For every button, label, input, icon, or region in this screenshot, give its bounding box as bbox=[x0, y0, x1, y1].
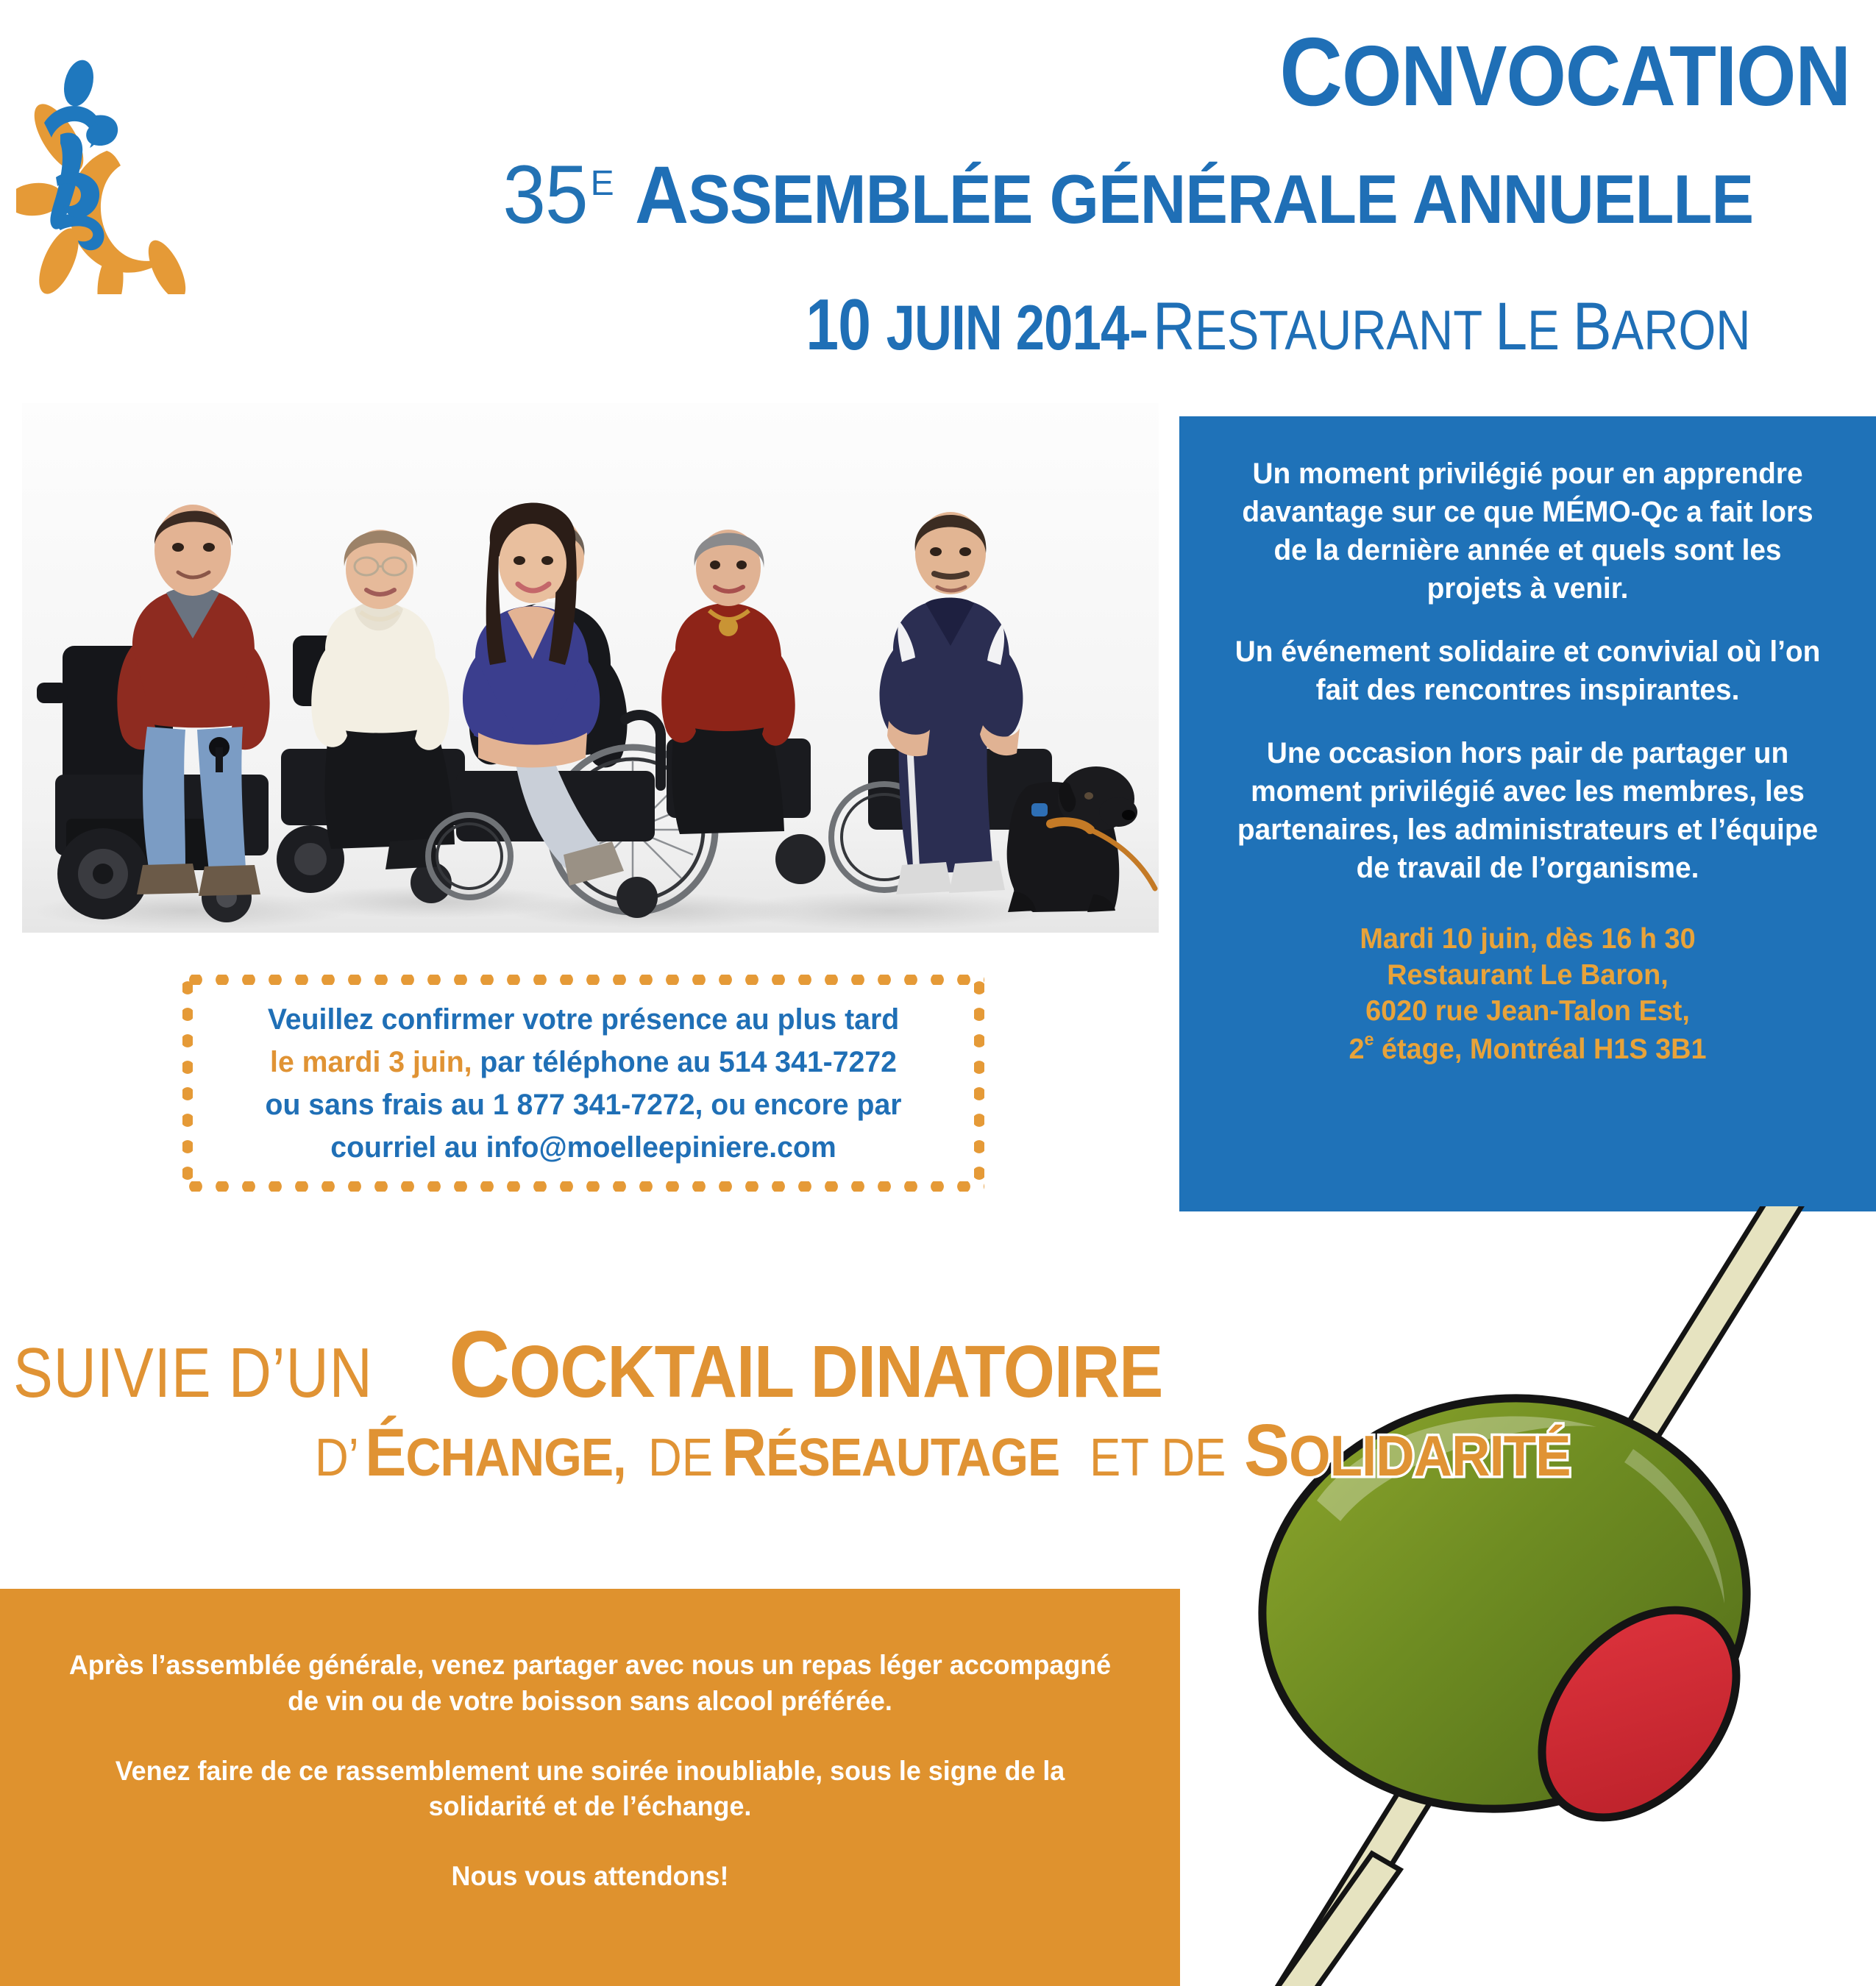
cocktail-bold: COCKTAIL DINATOIRE bbox=[449, 1311, 1162, 1419]
blue-paragraph-1: Un moment privilégié pour en apprendre d… bbox=[1226, 455, 1830, 608]
poster-canvas: CONVOCATION 35EASSEMBLÉE GÉNÉRALE ANNUEL… bbox=[0, 0, 1876, 1986]
reseautage-rest: ÉSEAUTAGE bbox=[767, 1428, 1060, 1487]
venue-cap-r: R bbox=[1153, 289, 1195, 364]
orange-paragraph-2: Venez faire de ce rassemblement une soir… bbox=[57, 1754, 1122, 1826]
orange-paragraph-3: Nous vous attendons! bbox=[57, 1859, 1122, 1895]
rsvp-line-3: ou sans frais au 1 877 341-7272, ou enco… bbox=[209, 1083, 957, 1126]
memo-qc-logo bbox=[16, 40, 270, 294]
group-photo bbox=[22, 403, 1159, 933]
convocation-cap: C bbox=[1279, 18, 1342, 126]
edition-suffix: E bbox=[591, 164, 614, 203]
cocktail-bold-rest: OCKTAIL DINATOIRE bbox=[509, 1331, 1162, 1413]
convocation-title: CONVOCATION bbox=[1279, 21, 1850, 124]
echange-rest: CHANGE, bbox=[406, 1428, 626, 1487]
blue-paragraph-3: Une occasion hors pair de partager un mo… bbox=[1226, 734, 1830, 887]
venue-cap-l: L bbox=[1495, 289, 1527, 364]
rsvp-line-2: le mardi 3 juin, par téléphone au 514 34… bbox=[209, 1041, 957, 1083]
date-venue-line: 10 JUIN 2014-RESTAURANT LE BARON bbox=[735, 283, 1848, 366]
cocktail-orange-box: Après l’assemblée générale, venez partag… bbox=[0, 1589, 1180, 1986]
cocktail-d-prefix: D’ bbox=[315, 1428, 359, 1488]
cocktail-cap-c: C bbox=[449, 1312, 509, 1417]
assembly-title: ASSEMBLÉE GÉNÉRALE ANNUELLE bbox=[635, 149, 1753, 242]
orange-paragraph-1: Après l’assemblée générale, venez partag… bbox=[57, 1648, 1122, 1720]
date-rest: JUIN 2014 bbox=[887, 293, 1129, 363]
assembly-rest: SSEMBLÉE GÉNÉRALE ANNUELLE bbox=[688, 160, 1753, 238]
header-convocation: CONVOCATION bbox=[1216, 21, 1850, 124]
toothpick-front-segment bbox=[1274, 1854, 1400, 1986]
cocktail-thin-prefix: SUIVIE D’UN bbox=[13, 1333, 373, 1414]
date-number: 10 bbox=[806, 284, 887, 365]
cocktail-line-1: SUIVIE D’UN COCKTAIL DINATOIRE bbox=[13, 1311, 1242, 1419]
event-date: 10 JUIN 2014 bbox=[806, 283, 1129, 366]
assembly-title-line: 35EASSEMBLÉE GÉNÉRALE ANNUELLE bbox=[497, 147, 1850, 242]
convocation-rest: ONVOCATION bbox=[1342, 28, 1850, 124]
blue-paragraph-2: Un événement solidaire et convivial où l… bbox=[1226, 633, 1830, 709]
address-line-2: Restaurant Le Baron, bbox=[1387, 959, 1669, 991]
venue-rest-3: ARON bbox=[1612, 299, 1751, 362]
rsvp-dotted-box: Veuillez confirmer votre présence au plu… bbox=[182, 975, 984, 1192]
cocktail-reseautage: RÉSEAUTAGE bbox=[722, 1414, 1059, 1492]
olive-body bbox=[1236, 1367, 1776, 1855]
rsvp-deadline: le mardi 3 juin, bbox=[270, 1046, 472, 1078]
venue-rest-1: ESTAURANT bbox=[1195, 299, 1495, 362]
address-floor-sup: e bbox=[1365, 1030, 1374, 1050]
venue-rest-2: E bbox=[1527, 299, 1573, 362]
address-line-4: étage, Montréal H1S 3B1 bbox=[1374, 1033, 1706, 1065]
cocktail-echange: ÉCHANGE, bbox=[365, 1414, 626, 1492]
edition-number: 35 bbox=[502, 147, 587, 242]
reseautage-cap-r: R bbox=[722, 1415, 766, 1490]
address-floor-number: 2 bbox=[1349, 1033, 1364, 1065]
rsvp-content: Veuillez confirmer votre présence au plu… bbox=[182, 998, 984, 1169]
rsvp-line-1: Veuillez confirmer votre présence au plu… bbox=[209, 998, 957, 1041]
address-line-1: Mardi 10 juin, dès 16 h 30 bbox=[1360, 923, 1695, 955]
venue-name: RESTAURANT LE BARON bbox=[1153, 288, 1750, 366]
assembly-cap: A bbox=[635, 150, 688, 241]
olive-illustration bbox=[1148, 1206, 1876, 1986]
echange-cap-e: É bbox=[365, 1415, 406, 1490]
event-address: Mardi 10 juin, dès 16 h 30 Restaurant Le… bbox=[1226, 921, 1830, 1068]
date-venue-separator: - bbox=[1129, 296, 1149, 362]
rsvp-phone-text: par téléphone au 514 341-7272 bbox=[472, 1046, 897, 1078]
address-line-3: 6020 rue Jean-Talon Est, bbox=[1365, 995, 1690, 1027]
venue-cap-b: B bbox=[1573, 289, 1612, 364]
cocktail-de-1: DE bbox=[648, 1428, 713, 1488]
info-blue-box: Un moment privilégié pour en apprendre d… bbox=[1179, 416, 1876, 1211]
rsvp-line-4[interactable]: courriel au info@moelleepiniere.com bbox=[209, 1126, 957, 1169]
